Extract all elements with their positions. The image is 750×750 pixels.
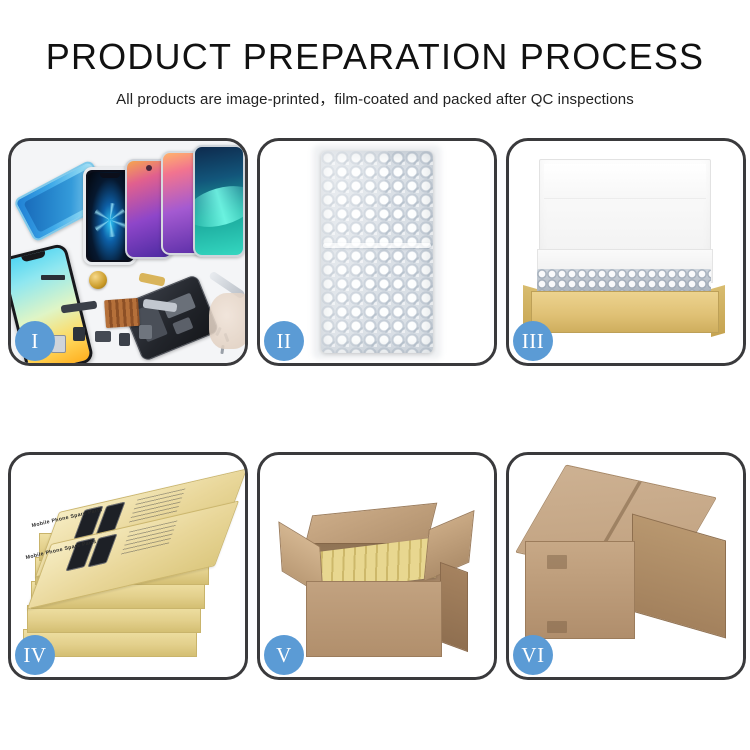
step-badge-5: V — [264, 635, 304, 675]
small-part-1 — [73, 327, 85, 341]
carton-handle-tab-top — [547, 555, 567, 569]
product-preparation-infographic: PRODUCT PREPARATION PROCESS All products… — [0, 0, 750, 750]
inner-box-bubble-fill — [537, 269, 711, 293]
page-subtitle: All products are image-printed，film-coat… — [0, 76, 750, 109]
panel-step-2[interactable]: II — [257, 138, 497, 366]
sealed-carton — [523, 481, 729, 661]
panel-step-5[interactable]: V — [257, 452, 497, 680]
carton-front-face — [525, 541, 635, 639]
flex-cable-gold-part — [138, 272, 165, 286]
page-title: PRODUCT PREPARATION PROCESS — [0, 0, 750, 76]
kraft-box-layer-4 — [27, 605, 201, 633]
panel-step-6[interactable]: VI — [506, 452, 746, 680]
open-carton — [286, 495, 470, 665]
bubble-wrap-seam — [323, 243, 431, 248]
bubble-wrapped-product — [321, 151, 433, 353]
carton-right-wall — [440, 562, 468, 652]
step-badge-3: III — [513, 321, 553, 361]
small-part-2 — [95, 331, 111, 342]
small-part-4 — [139, 325, 152, 339]
step-badge-2: II — [264, 321, 304, 361]
small-part-3 — [119, 333, 130, 346]
taptic-coil-part — [89, 271, 107, 289]
phone-teal — [193, 145, 245, 257]
panel-step-4[interactable]: Mobile Phone Spare Parts Mobile Phone Sp… — [8, 452, 248, 680]
technician-hand — [209, 293, 245, 349]
battery-bar-part — [41, 275, 65, 280]
step-badge-6: VI — [513, 635, 553, 675]
housing-camera — [172, 317, 193, 335]
step-badge-4: IV — [15, 635, 55, 675]
kraft-box-stack: Mobile Phone Spare Parts Mobile Phone Sp… — [17, 479, 241, 669]
carton-handle-tab-bottom — [547, 621, 567, 633]
panel-step-1[interactable]: I — [8, 138, 248, 366]
chip-grid-part — [104, 298, 140, 328]
phone-notch-large — [21, 251, 46, 263]
inner-box-front-wall — [531, 291, 719, 333]
carton-front-wall — [306, 581, 442, 657]
header: PRODUCT PREPARATION PROCESS All products… — [0, 0, 750, 109]
step-badge-1: I — [15, 321, 55, 361]
process-step-grid: I II III — [8, 138, 745, 742]
panel-step-3[interactable]: III — [506, 138, 746, 366]
phone-notch — [100, 173, 120, 178]
carton-side-face — [632, 514, 726, 639]
